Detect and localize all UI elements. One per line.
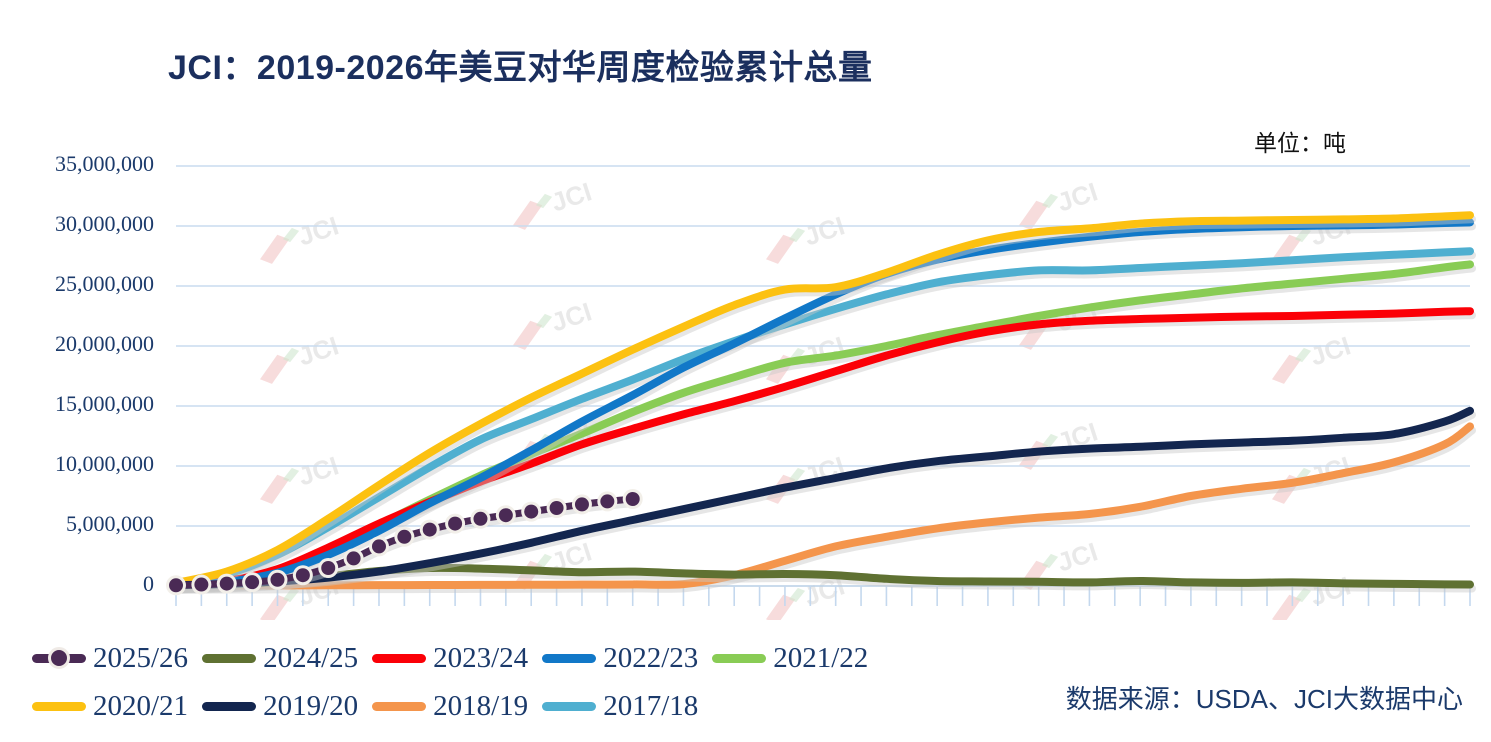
svg-text:JCI: JCI — [294, 330, 342, 371]
series-marker — [473, 512, 487, 526]
series-marker — [270, 573, 284, 587]
series-marker — [220, 577, 234, 591]
watermark: JCI — [506, 176, 596, 233]
y-axis-tick-label: 30,000,000 — [55, 211, 154, 236]
series-marker — [169, 578, 183, 592]
watermark: JCI — [506, 296, 596, 353]
legend-item-2018-19[interactable]: 2018/19 — [372, 690, 538, 723]
watermark: JCI — [253, 450, 343, 507]
legend-item-2017-18[interactable]: 2017/18 — [542, 690, 708, 723]
series-marker — [626, 492, 640, 506]
series-marker — [499, 508, 513, 522]
series-marker — [347, 551, 361, 565]
legend-swatch-icon — [372, 702, 426, 711]
legend-item-2025-26[interactable]: 2025/26 — [32, 642, 198, 675]
legend-label: 2019/20 — [263, 690, 358, 723]
watermark: JCI — [1265, 330, 1355, 387]
svg-text:JCI: JCI — [294, 450, 342, 491]
legend-item-2020-21[interactable]: 2020/21 — [32, 690, 198, 723]
legend-row: 2020/212019/202018/192017/18 — [32, 682, 1012, 730]
data-source-label: 数据来源：USDA、JCI大数据中心 — [1066, 679, 1463, 716]
legend-swatch-icon — [542, 654, 596, 663]
legend-label: 2025/26 — [93, 642, 188, 675]
y-axis-tick-label: 15,000,000 — [55, 391, 154, 416]
legend-swatch-icon — [32, 654, 86, 663]
legend-label: 2020/21 — [93, 690, 188, 723]
y-axis-tick-label: 20,000,000 — [55, 331, 154, 356]
series-marker — [575, 497, 589, 511]
watermark: JCI — [1265, 570, 1355, 620]
svg-text:JCI: JCI — [1053, 536, 1101, 577]
chart-page: JCI：2019-2026年美豆对华周度检验累计总量 单位：吨 数据来源：USD… — [0, 0, 1491, 742]
legend-item-2021-22[interactable]: 2021/22 — [712, 642, 878, 675]
series-marker — [423, 523, 437, 537]
legend-swatch-icon — [372, 654, 426, 663]
legend-label: 2018/19 — [433, 690, 528, 723]
svg-text:JCI: JCI — [1053, 176, 1101, 217]
legend-row: 2025/262024/252023/242022/232021/22 — [32, 634, 1012, 682]
series-marker — [550, 501, 564, 515]
legend-label: 2017/18 — [603, 690, 698, 723]
watermark: JCI — [253, 210, 343, 267]
y-axis-tick-label: 10,000,000 — [55, 451, 154, 476]
legend-swatch-icon — [712, 654, 766, 663]
series-marker — [296, 568, 310, 582]
legend-swatch-icon — [202, 702, 256, 711]
y-axis-tick-label: 0 — [143, 571, 154, 596]
legend-item-2022-23[interactable]: 2022/23 — [542, 642, 708, 675]
series-marker — [194, 578, 208, 592]
legend-item-2019-20[interactable]: 2019/20 — [202, 690, 368, 723]
y-axis-tick-label: 25,000,000 — [55, 271, 154, 296]
series-marker — [524, 505, 538, 519]
chart-legend: 2025/262024/252023/242022/232021/222020/… — [32, 634, 1012, 730]
y-axis-tick-label: 5,000,000 — [66, 511, 154, 536]
legend-item-2024-25[interactable]: 2024/25 — [202, 642, 368, 675]
series-marker — [448, 517, 462, 531]
series-marker — [600, 494, 614, 508]
legend-label: 2023/24 — [433, 642, 528, 675]
legend-item-2023-24[interactable]: 2023/24 — [372, 642, 538, 675]
watermark: JCI — [1012, 416, 1102, 473]
series-marker — [321, 561, 335, 575]
series-marker — [397, 530, 411, 544]
legend-swatch-icon — [202, 654, 256, 663]
series-marker — [245, 575, 259, 589]
legend-label: 2024/25 — [263, 642, 358, 675]
watermark: JCI — [253, 330, 343, 387]
legend-label: 2022/23 — [603, 642, 698, 675]
svg-text:JCI: JCI — [800, 210, 848, 251]
watermark: JCI — [1012, 176, 1102, 233]
legend-swatch-icon — [32, 702, 86, 711]
svg-text:JCI: JCI — [294, 210, 342, 251]
y-axis-tick-label: 35,000,000 — [55, 151, 154, 176]
svg-text:JCI: JCI — [547, 176, 595, 217]
plot-area: JCIJCIJCIJCIJCIJCIJCIJCIJCIJCIJCIJCIJCIJ… — [0, 0, 1491, 620]
line-chart-svg: JCIJCIJCIJCIJCIJCIJCIJCIJCIJCIJCIJCIJCIJ… — [0, 0, 1491, 620]
series-marker — [372, 539, 386, 553]
legend-swatch-icon — [542, 702, 596, 711]
svg-text:JCI: JCI — [547, 296, 595, 337]
watermark: JCI — [759, 210, 849, 267]
svg-text:JCI: JCI — [1306, 330, 1354, 371]
legend-label: 2021/22 — [773, 642, 868, 675]
